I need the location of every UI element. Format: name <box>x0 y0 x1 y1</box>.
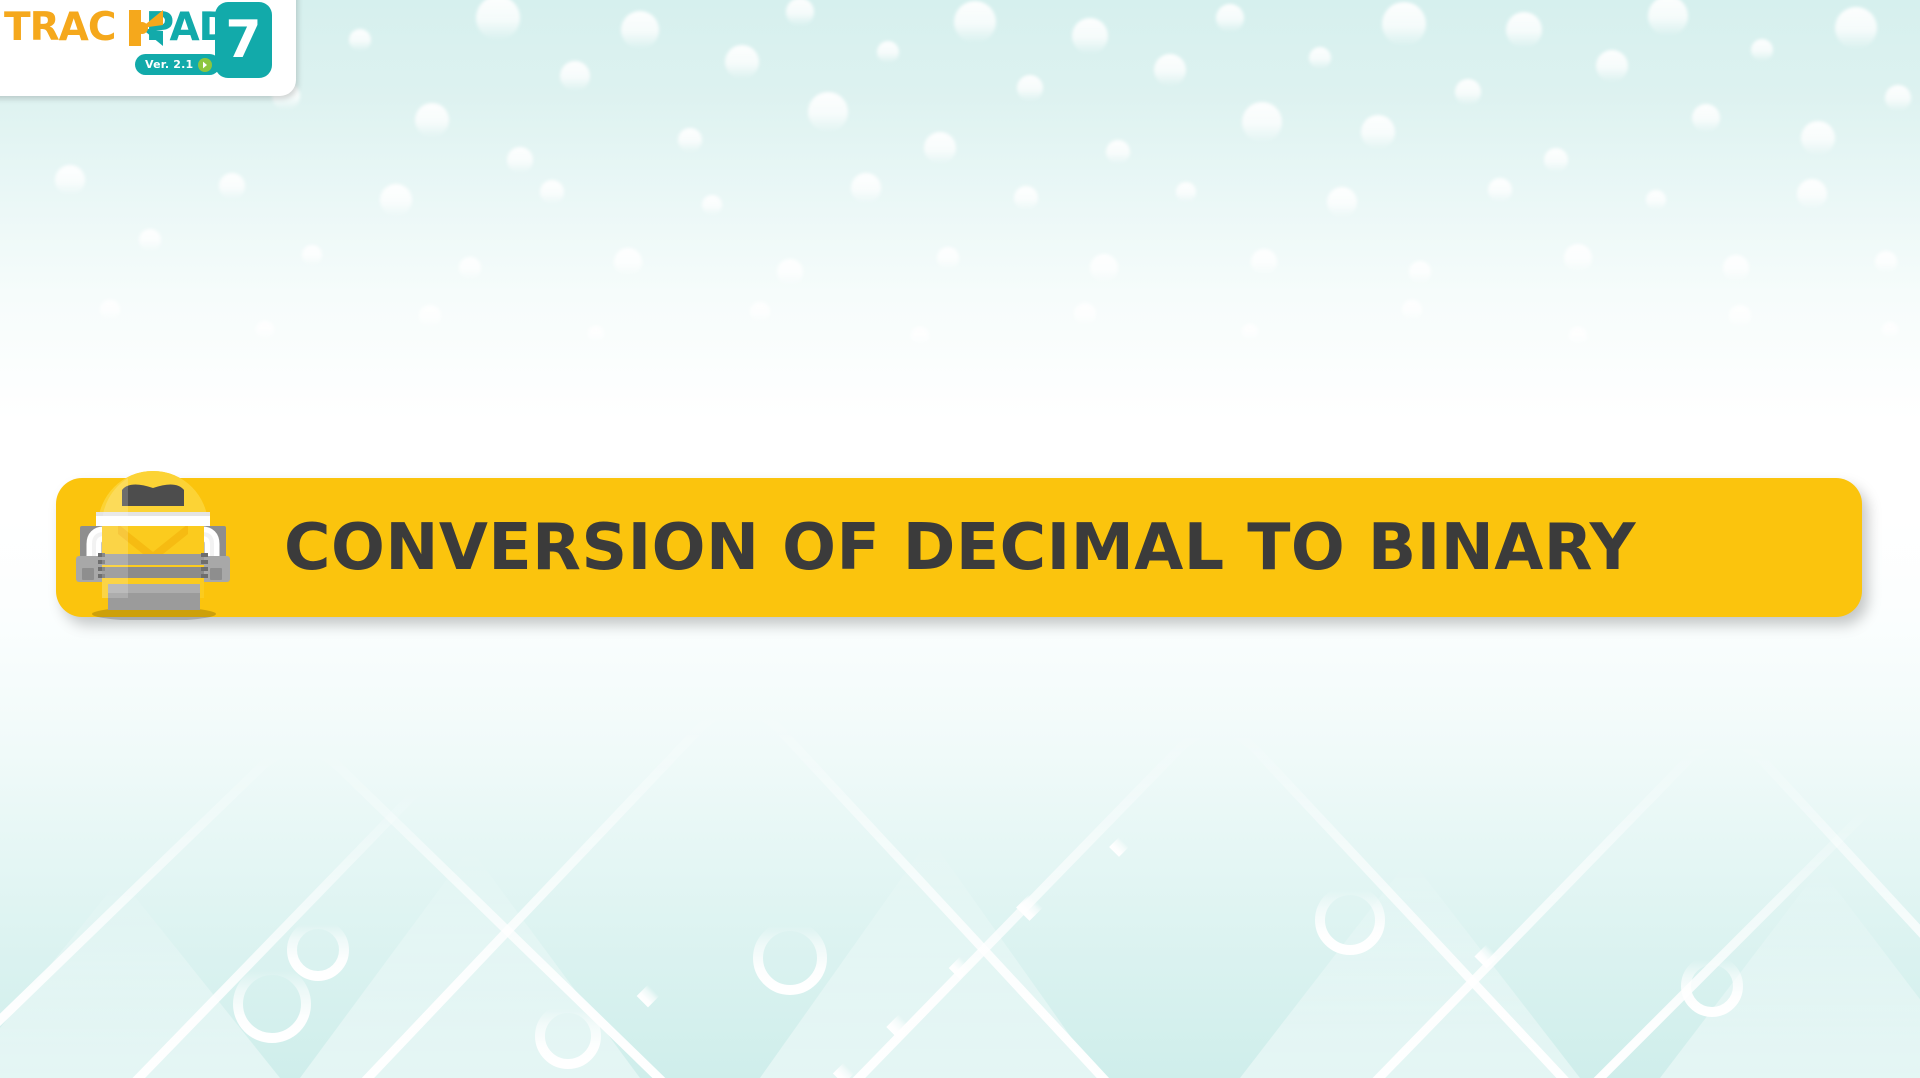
logo-inner: TRACPAD Ver. 2.1 7 <box>0 0 282 80</box>
logo-wordmark: TRACPAD <box>4 8 230 47</box>
title-banner: CONVERSION OF DECIMAL TO BINARY <box>56 478 1862 617</box>
circle-arrow-right-icon <box>198 58 212 72</box>
page-title: CONVERSION OF DECIMAL TO BINARY <box>284 516 1636 580</box>
trackpad-logo-card[interactable]: TRACPAD Ver. 2.1 7 <box>0 0 296 96</box>
robot-mascot-icon <box>58 448 248 620</box>
version-badge: Ver. 2.1 <box>135 54 220 75</box>
logo-word-trac: TRAC <box>4 5 115 50</box>
version-label: Ver. 2.1 <box>145 59 193 70</box>
slide-canvas: CONVERSION OF DECIMAL TO BINARY <box>0 0 1920 1078</box>
logo-k-icon <box>127 10 165 46</box>
edition-number: 7 <box>225 14 261 66</box>
edition-number-badge: 7 <box>215 2 272 78</box>
